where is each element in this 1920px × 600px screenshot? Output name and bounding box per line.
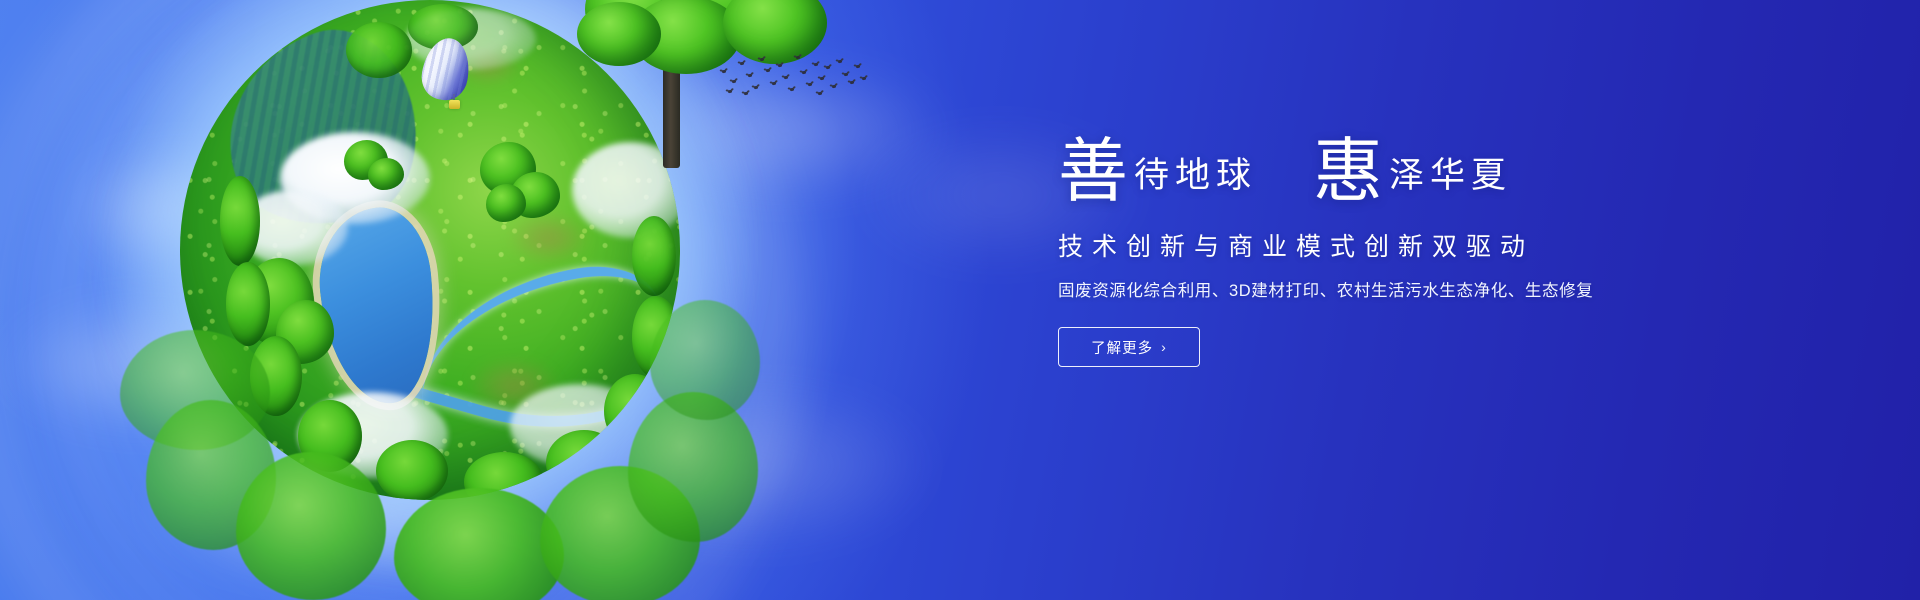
bird-icon [796, 56, 801, 60]
headline-part2-big: 惠 [1313, 136, 1383, 206]
foreground-tree-icon [236, 452, 386, 600]
learn-more-label: 了解更多 [1091, 337, 1153, 358]
bird-icon [732, 80, 737, 84]
learn-more-button[interactable]: 了解更多 › [1058, 327, 1200, 367]
bird-icon [838, 60, 843, 64]
bird-icon [802, 71, 807, 75]
hero-banner: 善待地球惠泽华夏 技术创新与商业模式创新双驱动 固废资源化综合利用、3D建材打印… [0, 0, 1920, 600]
bird-icon [740, 62, 745, 66]
rim-tree-icon [632, 216, 676, 296]
headline-part2-small: 泽华夏 [1389, 159, 1512, 194]
bird-icon [850, 81, 855, 85]
hero-copy: 善待地球惠泽华夏 技术创新与商业模式创新双驱动 固废资源化综合利用、3D建材打印… [1058, 130, 1758, 367]
bird-flock-icon [718, 52, 868, 98]
chevron-right-icon: › [1161, 340, 1167, 354]
bird-icon [826, 66, 831, 70]
rim-tree-icon [346, 22, 412, 78]
headline-part1-big: 善 [1058, 136, 1128, 206]
hot-air-balloon-icon [423, 38, 473, 118]
balloon-stripes [418, 34, 474, 103]
bird-icon [760, 58, 765, 62]
headline: 善待地球惠泽华夏 [1058, 130, 1758, 222]
bird-icon [832, 85, 837, 89]
globe-illustration [180, 0, 680, 500]
rim-tree-icon [220, 176, 260, 266]
bird-icon [856, 65, 861, 69]
tree-canopy [577, 2, 661, 66]
rim-tree-icon [226, 262, 270, 346]
bird-icon [818, 92, 823, 96]
bird-icon [728, 90, 733, 94]
bird-icon [784, 76, 789, 80]
bird-icon [790, 88, 795, 92]
description: 固废资源化综合利用、3D建材打印、农村生活污水生态净化、生态修复 [1058, 280, 1758, 303]
bird-icon [808, 83, 813, 87]
subtitle: 技术创新与商业模式创新双驱动 [1058, 232, 1758, 263]
bird-icon [778, 64, 783, 68]
bird-icon [772, 82, 777, 86]
bird-icon [754, 86, 759, 90]
bird-icon [722, 70, 727, 74]
bird-icon [820, 77, 825, 81]
bird-icon [814, 63, 819, 67]
foreground-tree-icon [650, 300, 760, 420]
bird-icon [766, 69, 771, 73]
bird-icon [862, 77, 867, 81]
bird-icon [844, 73, 849, 77]
headline-part1-small: 待地球 [1134, 159, 1257, 194]
balloon-basket [449, 100, 460, 109]
bird-icon [748, 74, 753, 78]
bird-icon [744, 92, 749, 96]
rim-tree-icon [376, 440, 448, 500]
